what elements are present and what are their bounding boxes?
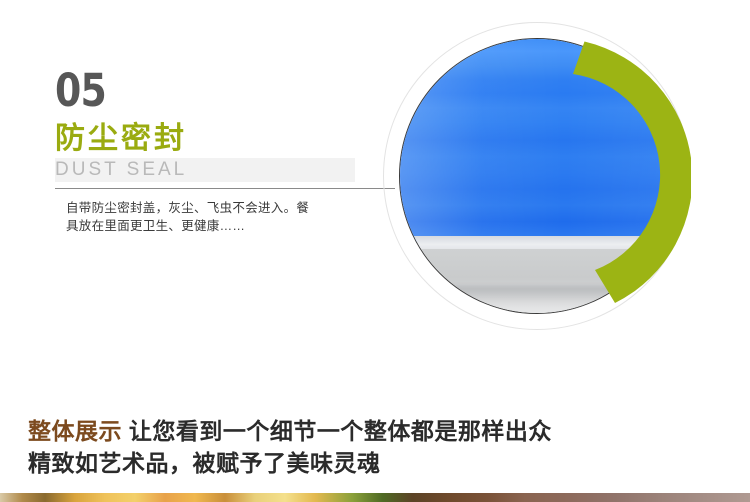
- caption-line-2: 精致如艺术品，被赋予了美味灵魂: [0, 447, 750, 479]
- photo-base-shadow: [416, 286, 657, 302]
- caption-section: 整体展示 让您看到一个细节一个整体都是那样出众 精致如艺术品，被赋予了美味灵魂: [0, 415, 750, 490]
- feature-section: 05 防尘密封 DUST SEAL 自带防尘密封盖，灰尘、飞虫不会进入。餐具放在…: [0, 0, 750, 400]
- photo-container-base: [400, 249, 674, 313]
- feature-title-en: DUST SEAL: [55, 159, 187, 181]
- caption-line-1: 整体展示 让您看到一个细节一个整体都是那样出众: [0, 415, 750, 447]
- caption-highlight: 整体展示: [28, 418, 122, 444]
- product-photo-circle: [399, 38, 675, 314]
- feature-visual: [383, 22, 691, 330]
- bottom-photo-strip: [0, 493, 750, 502]
- feature-title-cn: 防尘密封: [55, 122, 385, 156]
- feature-text-column: 05 防尘密封 DUST SEAL: [55, 68, 385, 182]
- caption-line-1-text: 让您看到一个细节一个整体都是那样出众: [129, 418, 552, 444]
- photo-lid-highlight: [400, 39, 674, 242]
- feature-subtitle-band: DUST SEAL: [55, 158, 355, 182]
- feature-body-text: 自带防尘密封盖，灰尘、飞虫不会进入。餐具放在里面更卫生、更健康……: [66, 200, 316, 235]
- feature-divider: [55, 188, 395, 189]
- feature-number: 05: [55, 68, 332, 114]
